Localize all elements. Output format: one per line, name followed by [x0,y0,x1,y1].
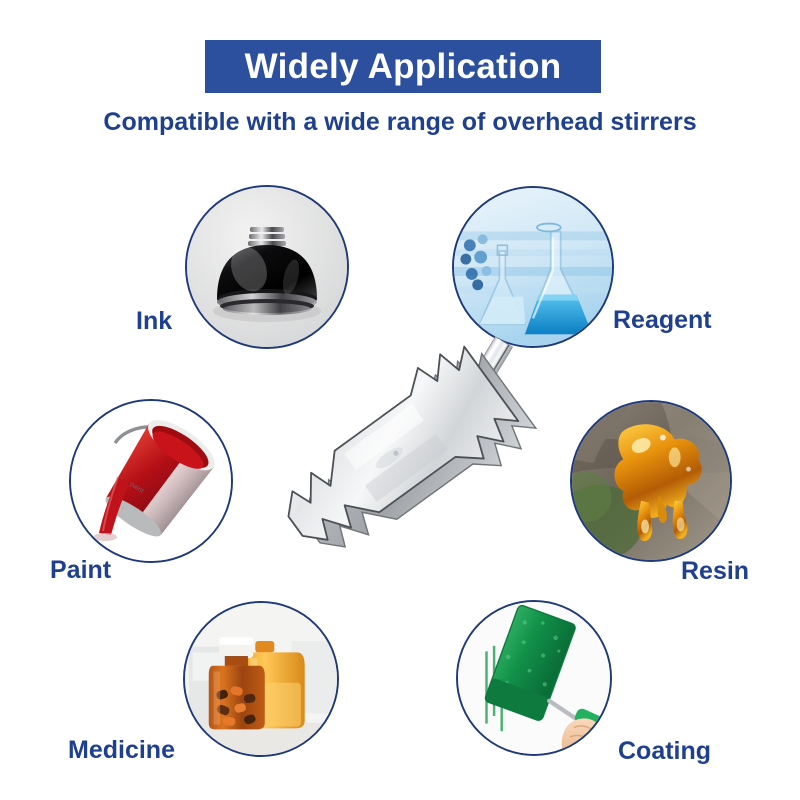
application-label-coating: Coating [618,739,711,764]
erlenmeyer-flasks-icon[interactable] [452,186,614,348]
application-label-reagent: Reagent [613,308,712,333]
application-label-paint: Paint [50,558,111,583]
application-label-medicine: Medicine [68,738,175,763]
tree-resin-icon[interactable] [570,400,732,562]
application-label-ink: Ink [136,309,172,334]
pill-bottles-icon[interactable] [183,601,339,757]
paint-can-pouring-icon[interactable]: paint [69,399,233,563]
header-subtitle: Compatible with a wide range of overhead… [0,110,800,135]
ink-bottle-icon[interactable] [185,185,349,349]
product-stirrer-image [243,330,553,615]
header-banner: Widely Application [205,40,601,93]
application-label-resin: Resin [681,559,749,584]
page-title: Widely Application [245,49,562,84]
paint-roller-icon[interactable] [456,600,612,756]
stirrer-paddle-icon [243,330,553,615]
